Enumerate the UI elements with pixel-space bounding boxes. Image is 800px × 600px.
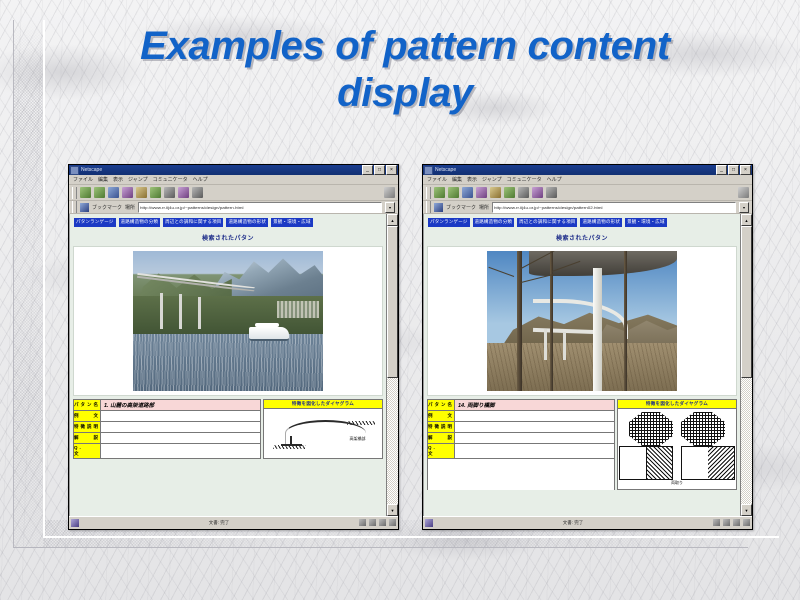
menubar[interactable]: ファイル 編集 表示 ジャンプ コミュニケータ ヘルプ [69,175,398,185]
print-icon[interactable] [518,187,529,198]
ground-hatch-right [347,421,375,425]
page-content: パタンランゲージ 道路構造物の分類 周辺との調和に関する項目 道路構造物の形状 … [69,214,386,516]
scroll-track[interactable] [387,378,398,504]
close-button[interactable]: × [386,165,397,175]
chevron-down-icon[interactable]: ▾ [739,202,749,213]
row-label-features: 特徴説明 [428,422,455,432]
row-text-features [455,422,614,432]
diagram-title: 特徴を図化したダイヤグラム [617,399,737,409]
table-row: 例 文 [428,411,614,422]
nav-button-landscape-environment[interactable]: 景観・環境・広域 [625,218,667,227]
table-header-row: パタン名 14. 両脚り橋脚 [428,400,614,411]
netscape-logo-icon[interactable] [384,187,395,198]
viaduct-pier [179,294,182,329]
bookmark-label[interactable]: ブックマーク [92,204,122,211]
viaduct-deck [137,273,255,304]
nav-button-pattern-language[interactable]: パタンランゲージ [428,218,470,227]
tray-icon-mail[interactable] [359,519,366,526]
row-text-question [455,444,614,458]
page-nav-buttons[interactable]: パタンランゲージ 道路構造物の分類 周辺との調和に関する項目 道路構造物の形状 … [424,214,740,230]
vertical-scrollbar[interactable]: ▲ ▼ [386,214,398,516]
location-bar[interactable]: ブックマーク 場所 http://www.rr.iij4u.or.jp/~pat… [69,201,398,214]
vertical-scrollbar[interactable]: ▲ ▼ [740,214,752,516]
nav-button-structure-shape[interactable]: 道路構造物の形状 [226,218,268,227]
print-icon[interactable] [164,187,175,198]
hatched-bar-row [619,446,735,480]
pattern-text-table: パタン名 14. 両脚り橋脚 例 文 特徴説明 [427,399,615,490]
url-input[interactable]: http://www.rr.iij4u.or.jp/~patterns/desi… [138,202,382,213]
toolbar-grip[interactable] [72,187,77,199]
nav-button-pattern-language[interactable]: パタンランゲージ [74,218,116,227]
security-icon[interactable] [532,187,543,198]
home-icon[interactable] [476,187,487,198]
netscape-logo-icon[interactable] [738,187,749,198]
row-label-example: 例 文 [428,411,455,421]
guide-icon[interactable] [504,187,515,198]
tray-icon-conference[interactable] [389,519,396,526]
window-controls[interactable]: _ □ × [362,165,397,175]
toolbar[interactable] [423,185,752,201]
statusbar: 文書: 完了 [69,516,398,528]
row-text-example [101,411,260,421]
menu-item-go[interactable]: ジャンプ [128,176,148,183]
winter-ground [487,343,677,391]
bare-tree [624,251,627,391]
page-content: パタンランゲージ 道路構造物の分類 周辺との調和に関する項目 道路構造物の形状 … [423,214,740,516]
scroll-down-button[interactable]: ▼ [387,504,398,516]
status-text: 文書: 完了 [436,520,710,526]
menu-item-edit[interactable]: 編集 [98,176,108,183]
bookmark-label[interactable]: ブックマーク [446,204,476,211]
viaduct-pier [160,293,163,329]
pattern-name: 14. 両脚り橋脚 [455,400,614,410]
row-label-example: 例 文 [74,411,101,421]
menu-item-communicator[interactable]: コミュニケータ [153,176,188,183]
viaduct-column [563,332,566,360]
pattern-text-table: パタン名 1. 山麓の高架道路部 例 文 特徴説明 [73,399,261,459]
row-label-question: Q. 文 [428,444,455,458]
toolbar[interactable] [69,185,398,201]
page-heading: 検索されたパタン [424,230,740,246]
table-row: 解 説 [428,433,614,444]
titlebar: Netscape _ □ × [423,165,752,175]
reload-icon[interactable] [108,187,119,198]
search-icon[interactable] [136,187,147,198]
scroll-down-button[interactable]: ▼ [741,504,752,516]
location-label: 場所 [479,204,489,211]
tray-icon-mail[interactable] [713,519,720,526]
table-row: 特徴説明 [74,422,260,433]
browser-window-right[interactable]: Netscape _ □ × ファイル 編集 表示 ジャンプ コミュニケータ ヘ… [422,164,753,530]
forward-icon[interactable] [448,187,459,198]
diagram-figure-patterns: 両取り [617,409,737,490]
scroll-track[interactable] [741,378,752,504]
ferry-boat [249,327,289,341]
security-icon[interactable] [178,187,189,198]
hatched-bar-icon [619,446,673,480]
pattern-table: パタン名 1. 山麓の高架道路部 例 文 特徴説明 [73,399,383,459]
lattice-octagon-icon [629,412,673,446]
search-icon[interactable] [490,187,501,198]
menubar[interactable]: ファイル 編集 表示 ジャンプ コミュニケータ ヘルプ [423,175,752,185]
page-viewport: パタンランゲージ 道路構造物の分類 周辺との調和に関する項目 道路構造物の形状 … [69,214,398,516]
row-label-commentary: 解 説 [74,433,101,443]
nav-button-structure-classification[interactable]: 道路構造物の分類 [473,218,515,227]
photo-lake-viaduct [133,251,323,391]
menu-item-help[interactable]: ヘルプ [547,176,562,183]
octagon-pattern-row [629,412,725,446]
table-row: 例 文 [74,411,260,422]
toolbar-grip[interactable] [426,187,431,199]
scroll-thumb[interactable] [741,226,752,378]
forward-icon[interactable] [94,187,105,198]
minimize-button[interactable]: _ [716,165,727,175]
diagram-title: 特徴を図化したダイヤグラム [263,399,383,409]
window-controls[interactable]: _ □ × [716,165,751,175]
scroll-up-button[interactable]: ▲ [741,214,752,226]
url-input[interactable]: http://www.rr.iij4u.or.jp/~patterns/desi… [492,202,736,213]
table-row: Q. 文 [74,444,260,459]
pattern-table: パタン名 14. 両脚り橋脚 例 文 特徴説明 [427,399,737,490]
stop-icon[interactable] [192,187,203,198]
bookmark-icon[interactable] [80,203,89,212]
location-bar[interactable]: ブックマーク 場所 http://www.rr.iij4u.or.jp/~pat… [423,201,752,214]
guide-icon[interactable] [150,187,161,198]
diagram-figure-arch: 高架橋部 [263,409,383,459]
menu-item-file[interactable]: ファイル [73,176,93,183]
viaduct-pier [198,297,201,329]
page-nav-buttons[interactable]: パタンランゲージ 道路構造物の分類 周辺との調和に関する項目 道路構造物の形状 … [70,214,386,230]
page-viewport: パタンランゲージ 道路構造物の分類 周辺との調和に関する項目 道路構造物の形状 … [423,214,752,516]
menu-item-go[interactable]: ジャンプ [482,176,502,183]
lattice-octagon-icon [681,412,725,446]
row-label-question: Q. 文 [74,444,101,458]
netscape-icon [424,166,433,175]
menu-item-file[interactable]: ファイル [427,176,447,183]
row-text-commentary [455,433,614,443]
tray-icon-composer[interactable] [379,519,386,526]
tray-icon-news[interactable] [369,519,376,526]
status-tray[interactable] [713,519,750,526]
table-header-row: パタン名 1. 山麓の高架道路部 [74,400,260,411]
diagram-caption: 高架橋部 [349,436,365,442]
nav-button-structure-shape[interactable]: 道路構造物の形状 [580,218,622,227]
hatched-bar-icon [681,446,735,480]
menu-item-help[interactable]: ヘルプ [193,176,208,183]
reload-icon[interactable] [462,187,473,198]
locationbar-grip[interactable] [72,201,77,213]
netscape-icon [71,519,79,527]
photo-curved-viaduct [487,251,677,391]
nav-button-landscape-environment[interactable]: 景観・環境・広域 [271,218,313,227]
row-text-features [101,422,260,432]
menu-item-communicator[interactable]: コミュニケータ [507,176,542,183]
photo-container [427,246,737,396]
slide-title: Examples of pattern content display [60,23,750,117]
photo-container [73,246,383,396]
maximize-button[interactable]: □ [374,165,385,175]
menu-item-edit[interactable]: 編集 [452,176,462,183]
row-text-question [101,444,260,458]
window-title: Netscape [435,167,714,173]
tray-icon-composer[interactable] [733,519,740,526]
locationbar-grip[interactable] [426,201,431,213]
row-text-example [455,411,614,421]
location-label: 場所 [125,204,135,211]
status-tray[interactable] [359,519,396,526]
menu-item-view[interactable]: 表示 [467,176,477,183]
ground-hatch-left [273,445,306,449]
statusbar: 文書: 完了 [423,516,752,528]
table-row: Q. 文 [428,444,614,459]
diagram-panel: 特徴を図化したダイヤグラム [617,399,737,490]
stop-icon[interactable] [546,187,557,198]
netscape-icon [425,519,433,527]
nav-button-harmony-items[interactable]: 周辺との調和に関する項目 [163,218,223,227]
titlebar: Netscape _ □ × [69,165,398,175]
nav-button-structure-classification[interactable]: 道路構造物の分類 [119,218,161,227]
netscape-icon [70,166,79,175]
viaduct-main-column [593,268,602,391]
window-title: Netscape [81,167,360,173]
table-header-key: パタン名 [428,400,455,410]
url-text: http://www.rr.iij4u.or.jp/~patterns/desi… [139,205,243,210]
chevron-down-icon[interactable]: ▾ [385,202,395,213]
tray-icon-conference[interactable] [743,519,750,526]
table-row: 特徴説明 [428,422,614,433]
minimize-button[interactable]: _ [362,165,373,175]
row-text-commentary [101,433,260,443]
nav-button-harmony-items[interactable]: 周辺との調和に関する項目 [517,218,577,227]
tray-icon-news[interactable] [723,519,730,526]
page-heading: 検索されたパタン [70,230,386,246]
lakeside-town [277,301,319,318]
back-icon[interactable] [434,187,445,198]
status-text: 文書: 完了 [82,520,356,526]
lake-water [133,334,323,391]
bare-tree [517,251,522,391]
scroll-thumb[interactable] [387,226,398,378]
close-button[interactable]: × [740,165,751,175]
home-icon[interactable] [122,187,133,198]
menu-item-view[interactable]: 表示 [113,176,123,183]
pattern-name: 1. 山麓の高架道路部 [101,400,260,410]
diagram-panel: 特徴を図化したダイヤグラム 高架橋部 [263,399,383,459]
maximize-button[interactable]: □ [728,165,739,175]
browser-window-left[interactable]: Netscape _ □ × ファイル 編集 表示 ジャンプ コミュニケータ ヘ… [68,164,399,530]
table-header-key: パタン名 [74,400,101,410]
bookmark-icon[interactable] [434,203,443,212]
scroll-up-button[interactable]: ▲ [387,214,398,226]
table-row: 解 説 [74,433,260,444]
viaduct-column [544,329,547,360]
row-label-features: 特徴説明 [74,422,101,432]
url-text: http://www.rr.iij4u.or.jp/~patterns/desi… [493,205,602,210]
row-label-commentary: 解 説 [428,433,455,443]
back-icon[interactable] [80,187,91,198]
diagram-caption: 両取り [671,480,683,486]
